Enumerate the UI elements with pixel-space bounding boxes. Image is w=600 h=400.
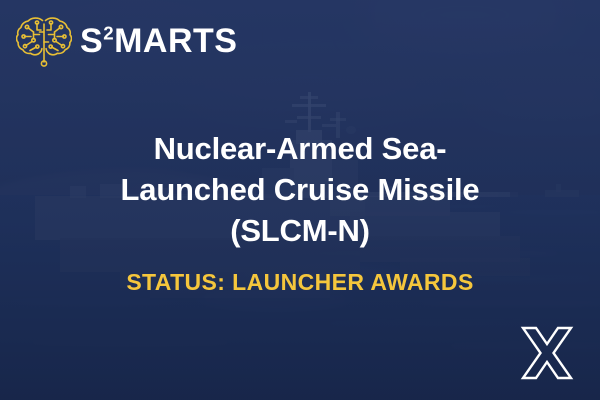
brand-wordmark: S2MARTS bbox=[80, 24, 237, 58]
wordmark-s: S bbox=[80, 22, 103, 60]
brand-logo[interactable]: S2MARTS bbox=[16, 12, 237, 70]
title-line-3: (SLCM-N) bbox=[50, 210, 550, 251]
wordmark-superscript: 2 bbox=[103, 23, 114, 44]
page-title: Nuclear-Armed Sea- Launched Cruise Missi… bbox=[50, 128, 550, 251]
title-line-1: Nuclear-Armed Sea- bbox=[50, 128, 550, 169]
wordmark-marts: MARTS bbox=[114, 22, 237, 60]
promo-banner: S2MARTS Nuclear-Armed Sea- Launched Crui… bbox=[0, 0, 600, 400]
title-line-2: Launched Cruise Missile bbox=[50, 169, 550, 210]
status-badge: STATUS: LAUNCHER AWARDS bbox=[50, 269, 550, 296]
circuit-brain-icon bbox=[16, 12, 72, 70]
content-layer: S2MARTS Nuclear-Armed Sea- Launched Crui… bbox=[0, 0, 600, 400]
